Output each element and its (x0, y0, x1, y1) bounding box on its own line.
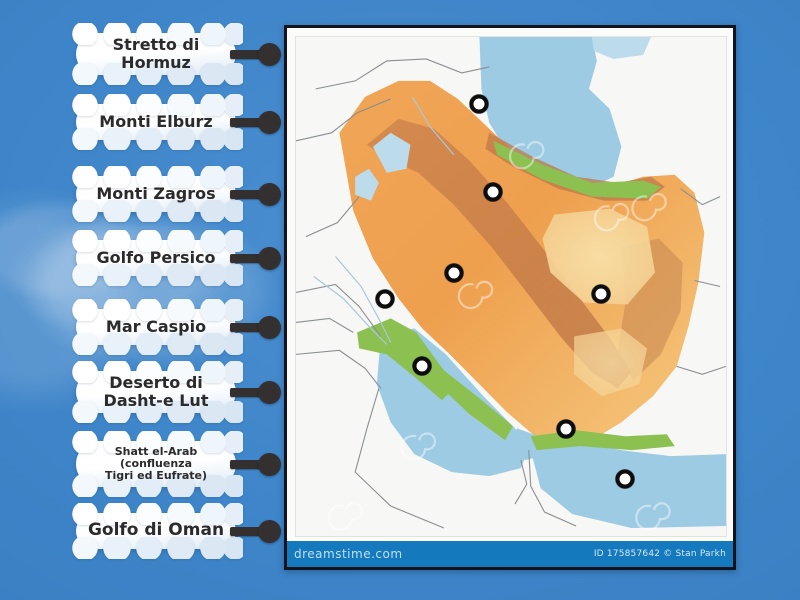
label-card-monti-zagros[interactable]: Monti Zagros (76, 176, 236, 212)
label-connector-deserto-dasht-e-lut[interactable] (230, 381, 281, 404)
image-credit: ID 175857642 © Stan Parkh (594, 549, 726, 559)
label-card-monti-elburz[interactable]: Monti Elburz (76, 104, 236, 140)
label-connector-golfo-di-oman[interactable] (230, 520, 281, 543)
connector-dot-icon[interactable] (258, 316, 281, 339)
connector-dot-icon[interactable] (258, 453, 281, 476)
label-connector-stretto-di-hormuz[interactable] (230, 43, 281, 66)
label-row-monti-zagros[interactable]: Monti Zagros (76, 176, 281, 212)
connector-dot-icon[interactable] (258, 43, 281, 66)
label-card-golfo-persico[interactable]: Golfo Persico (76, 240, 236, 276)
label-connector-monti-zagros[interactable] (230, 183, 281, 206)
map-marker-4[interactable] (376, 289, 395, 308)
map-canvas (295, 36, 727, 537)
connector-dot-icon[interactable] (258, 520, 281, 543)
map-marker-7[interactable] (557, 419, 576, 438)
connector-dot-icon[interactable] (258, 247, 281, 270)
map-inner-frame (287, 28, 733, 541)
connector-dot-icon[interactable] (258, 183, 281, 206)
label-row-monti-elburz[interactable]: Monti Elburz (76, 104, 281, 140)
label-text-golfo-di-oman: Golfo di Oman (88, 521, 224, 540)
label-card-golfo-di-oman[interactable]: Golfo di Oman (76, 513, 236, 549)
map-marker-5[interactable] (592, 284, 611, 303)
label-text-deserto-dasht-e-lut: Deserto diDasht-e Lut (104, 374, 209, 410)
label-row-stretto-di-hormuz[interactable]: Stretto diHormuz (76, 33, 281, 75)
map-marker-3[interactable] (445, 263, 464, 282)
label-row-shatt-el-arab[interactable]: Shatt el-Arab(confluenzaTigri ed Eufrate… (76, 441, 281, 487)
label-connector-shatt-el-arab[interactable] (230, 453, 281, 476)
label-card-deserto-dasht-e-lut[interactable]: Deserto diDasht-e Lut (76, 371, 236, 413)
map-marker-6[interactable] (412, 357, 431, 376)
label-text-monti-zagros: Monti Zagros (96, 185, 215, 203)
map-marker-8[interactable] (615, 469, 634, 488)
label-list: Stretto diHormuzMonti ElburzMonti Zagros… (0, 0, 290, 600)
label-card-mar-caspio[interactable]: Mar Caspio (76, 309, 236, 345)
label-card-stretto-di-hormuz[interactable]: Stretto diHormuz (76, 33, 236, 75)
connector-dot-icon[interactable] (258, 381, 281, 404)
label-text-stretto-di-hormuz: Stretto diHormuz (113, 36, 200, 72)
label-connector-monti-elburz[interactable] (230, 111, 281, 134)
label-row-golfo-persico[interactable]: Golfo Persico (76, 240, 281, 276)
label-row-deserto-dasht-e-lut[interactable]: Deserto diDasht-e Lut (76, 371, 281, 413)
label-row-mar-caspio[interactable]: Mar Caspio (76, 309, 281, 345)
dreamstime-logo: dreamstime.com (294, 547, 403, 561)
map-panel: dreamstime.com ID 175857642 © Stan Parkh (284, 25, 736, 570)
label-connector-golfo-persico[interactable] (230, 247, 281, 270)
label-text-mar-caspio: Mar Caspio (106, 318, 206, 336)
map-marker-2[interactable] (483, 182, 502, 201)
label-row-golfo-di-oman[interactable]: Golfo di Oman (76, 513, 281, 549)
label-text-monti-elburz: Monti Elburz (99, 113, 212, 131)
label-connector-mar-caspio[interactable] (230, 316, 281, 339)
connector-dot-icon[interactable] (258, 111, 281, 134)
map-graphic (296, 37, 726, 536)
watermark-bar: dreamstime.com ID 175857642 © Stan Parkh (287, 541, 733, 567)
map-marker-1[interactable] (469, 95, 488, 114)
label-card-shatt-el-arab[interactable]: Shatt el-Arab(confluenzaTigri ed Eufrate… (76, 441, 236, 487)
label-text-shatt-el-arab: Shatt el-Arab(confluenzaTigri ed Eufrate… (105, 446, 207, 483)
label-text-golfo-persico: Golfo Persico (96, 249, 215, 267)
